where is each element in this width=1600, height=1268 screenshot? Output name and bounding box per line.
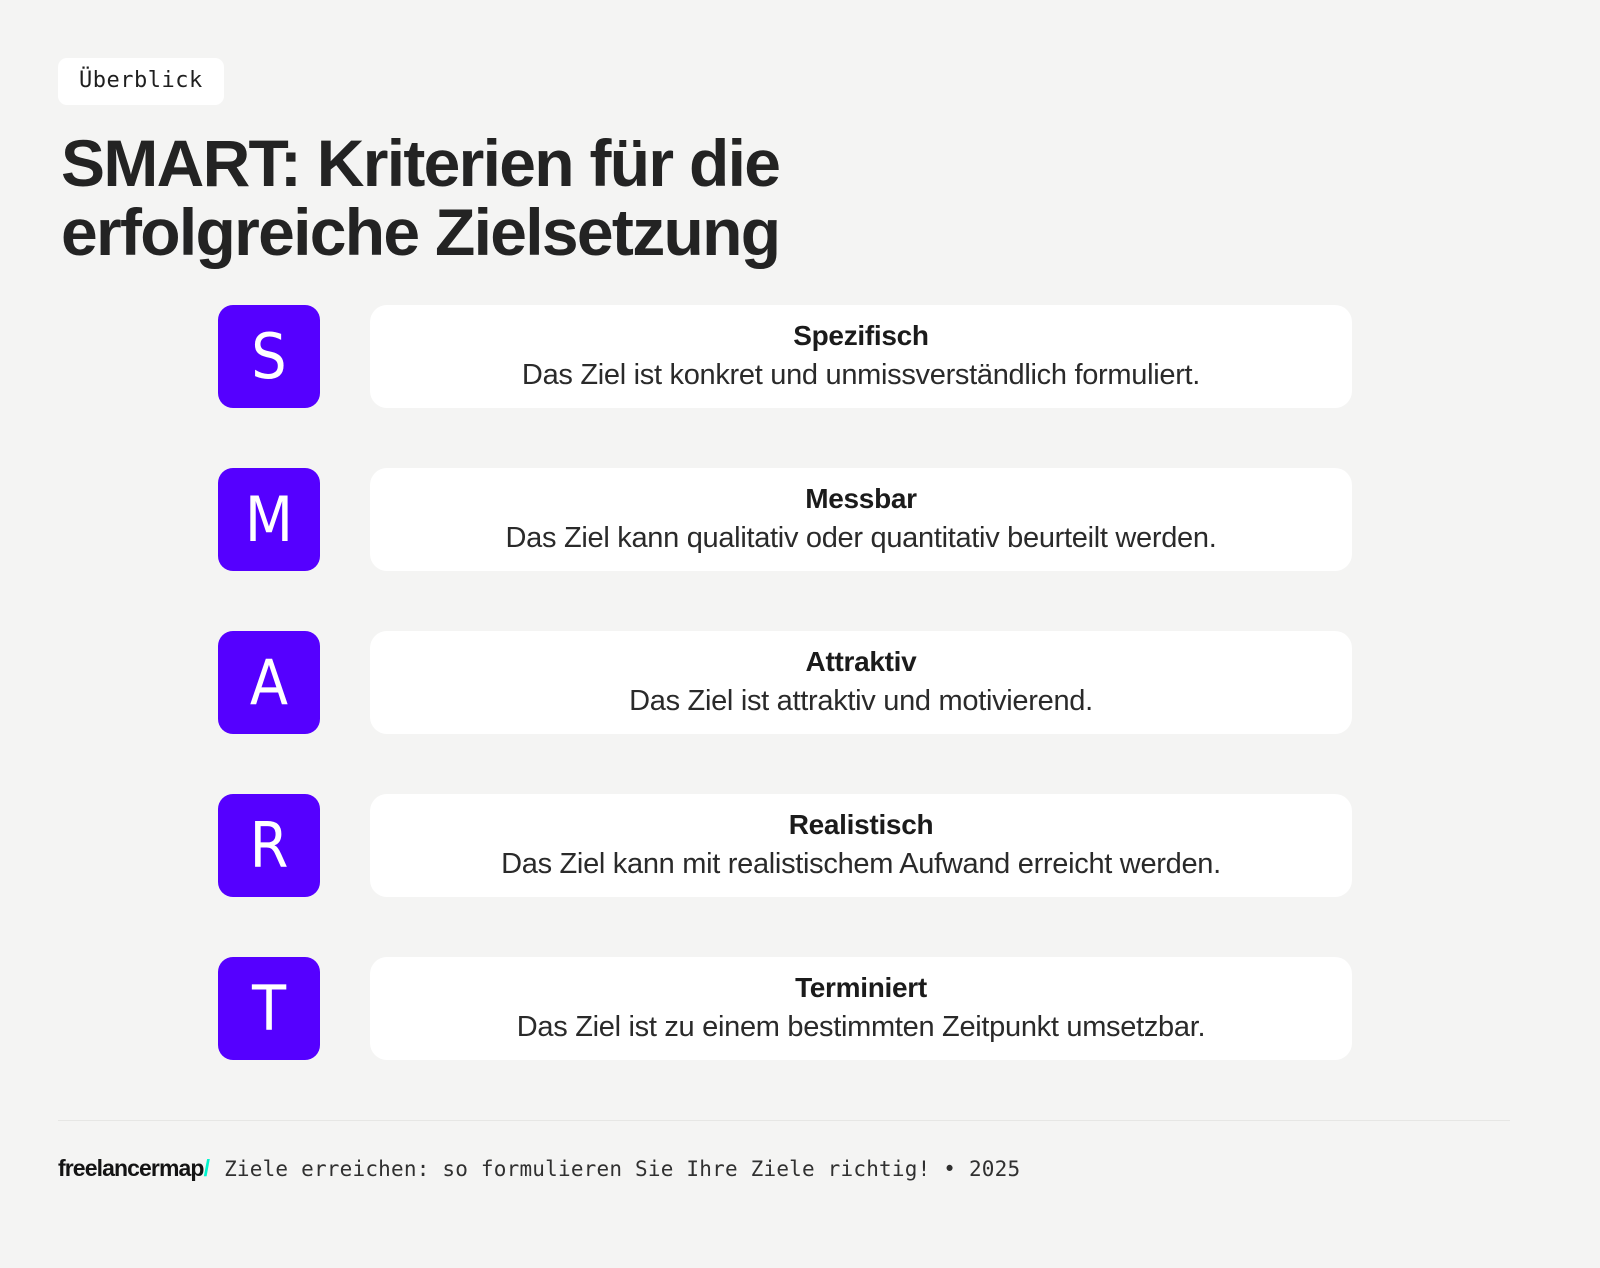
- criterion-card-terminiert: Terminiert Das Ziel ist zu einem bestimm…: [370, 957, 1352, 1060]
- criterion-title: Attraktiv: [806, 644, 917, 679]
- criterion-card-attraktiv: Attraktiv Das Ziel ist attraktiv und mot…: [370, 631, 1352, 734]
- list-item: S Spezifisch Das Ziel ist konkret und un…: [218, 305, 1352, 408]
- list-item: T Terminiert Das Ziel ist zu einem besti…: [218, 957, 1352, 1060]
- header: Überblick SMART: Kriterien für die erfol…: [0, 0, 1600, 266]
- brand-logo: freelancermap/: [58, 1155, 209, 1182]
- footer-caption: Ziele erreichen: so formulieren Sie Ihre…: [224, 1157, 1020, 1181]
- page-title: SMART: Kriterien für die erfolgreiche Zi…: [61, 129, 961, 266]
- criterion-title: Terminiert: [795, 970, 927, 1005]
- criterion-description: Das Ziel ist zu einem bestimmten Zeitpun…: [517, 1009, 1205, 1047]
- criterion-title: Realistisch: [789, 807, 934, 842]
- footer: freelancermap/ Ziele erreichen: so formu…: [58, 1155, 1020, 1182]
- list-item: R Realistisch Das Ziel kann mit realisti…: [218, 794, 1352, 897]
- criterion-title: Spezifisch: [793, 318, 928, 353]
- letter-tile-s: S: [218, 305, 320, 408]
- letter-tile-m: M: [218, 468, 320, 571]
- criterion-description: Das Ziel kann qualitativ oder quantitati…: [506, 520, 1217, 558]
- footer-divider: [58, 1120, 1510, 1121]
- letter-tile-a: A: [218, 631, 320, 734]
- brand-name: freelancermap: [58, 1155, 204, 1181]
- list-item: A Attraktiv Das Ziel ist attraktiv und m…: [218, 631, 1352, 734]
- letter-tile-r: R: [218, 794, 320, 897]
- criterion-card-realistisch: Realistisch Das Ziel kann mit realistisc…: [370, 794, 1352, 897]
- criterion-title: Messbar: [805, 481, 917, 516]
- criterion-description: Das Ziel kann mit realistischem Aufwand …: [501, 846, 1221, 884]
- list-item: M Messbar Das Ziel kann qualitativ oder …: [218, 468, 1352, 571]
- criterion-description: Das Ziel ist attraktiv und motivierend.: [629, 683, 1093, 721]
- infographic-page: Überblick SMART: Kriterien für die erfol…: [0, 0, 1600, 1268]
- criterion-card-spezifisch: Spezifisch Das Ziel ist konkret und unmi…: [370, 305, 1352, 408]
- criterion-card-messbar: Messbar Das Ziel kann qualitativ oder qu…: [370, 468, 1352, 571]
- letter-tile-t: T: [218, 957, 320, 1060]
- overview-badge: Überblick: [58, 58, 224, 105]
- criterion-description: Das Ziel ist konkret und unmissverständl…: [522, 357, 1200, 395]
- brand-slash: /: [204, 1155, 210, 1181]
- criteria-list: S Spezifisch Das Ziel ist konkret und un…: [218, 305, 1352, 1060]
